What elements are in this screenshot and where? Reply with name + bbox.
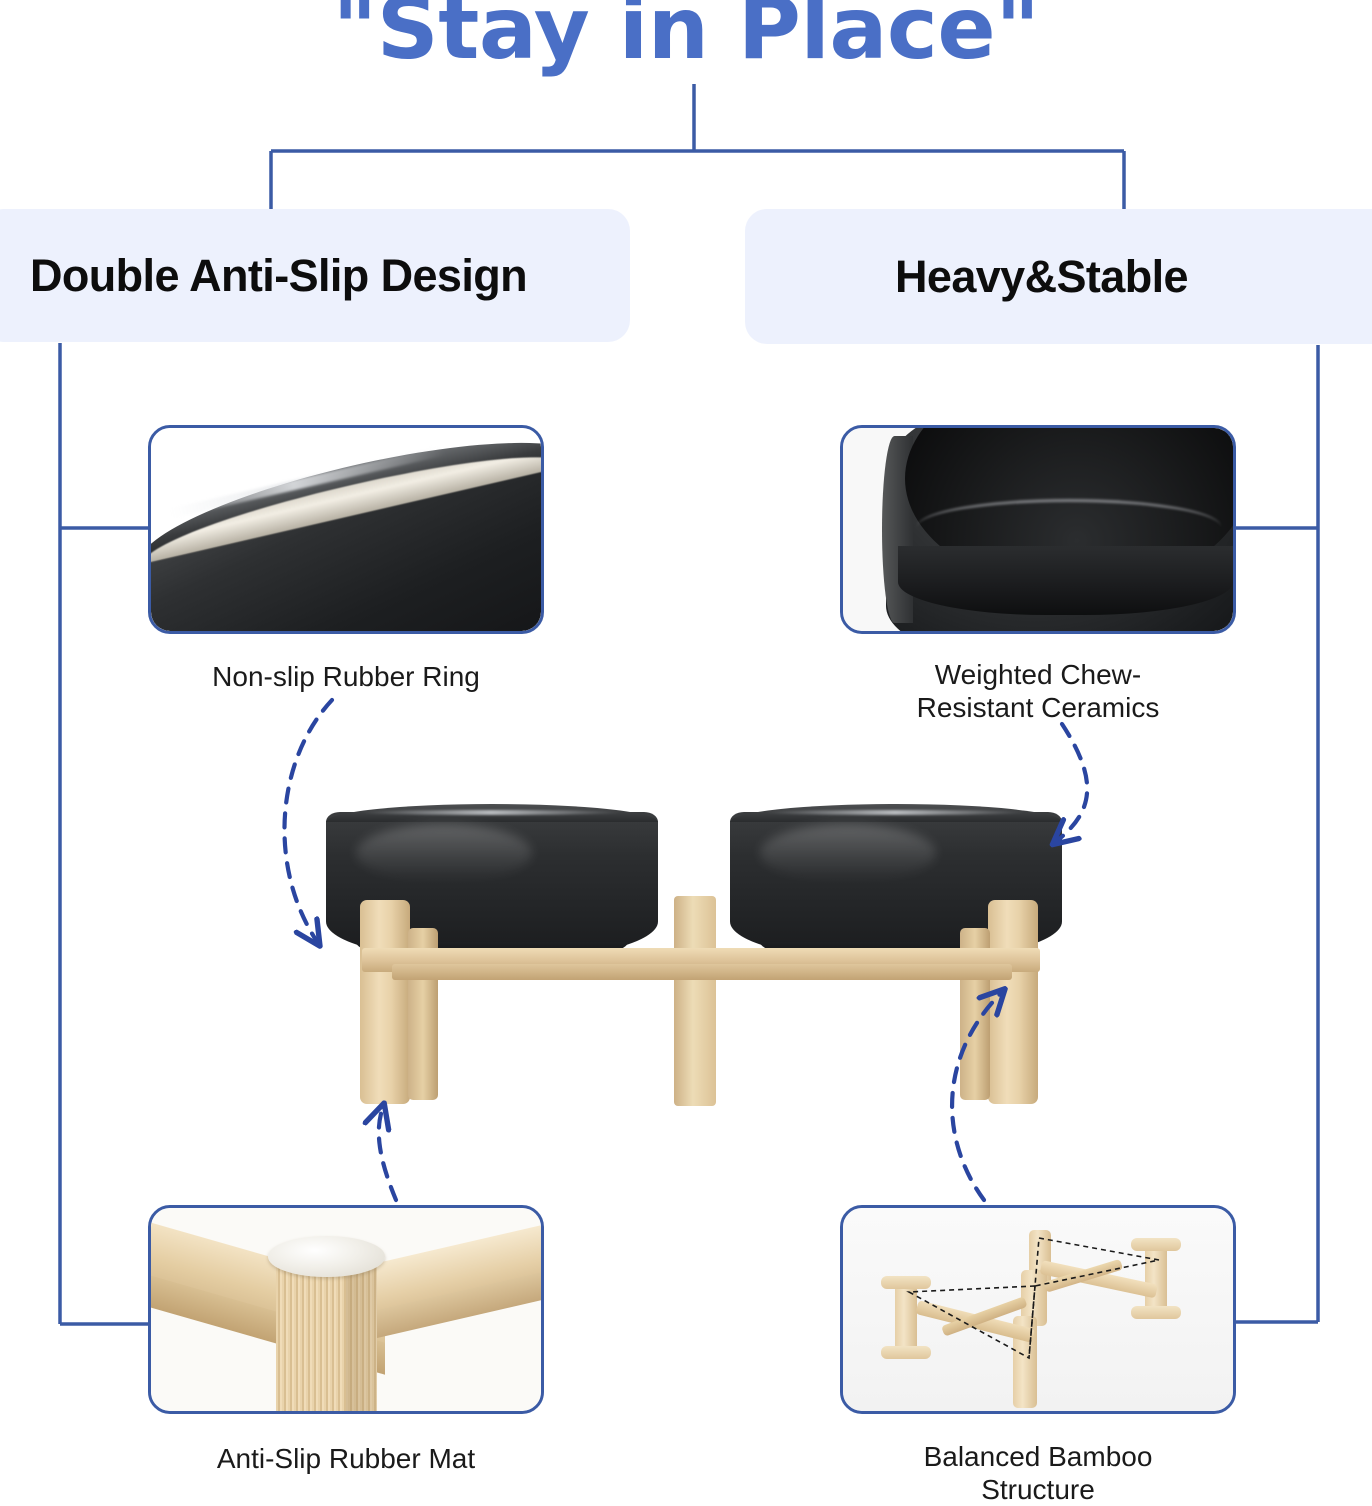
arrow-anti-slip-rubber-mat — [379, 1110, 396, 1200]
pointer-arrows — [0, 0, 1372, 1500]
arrow-non-slip-rubber-ring — [284, 700, 332, 940]
arrow-weighted-chew-resistant-ceramics — [1058, 724, 1087, 840]
infographic-root: "Stay in Place" Double Anti-Slip Design … — [0, 0, 1372, 1500]
arrow-balanced-bamboo-structure — [952, 994, 1000, 1200]
